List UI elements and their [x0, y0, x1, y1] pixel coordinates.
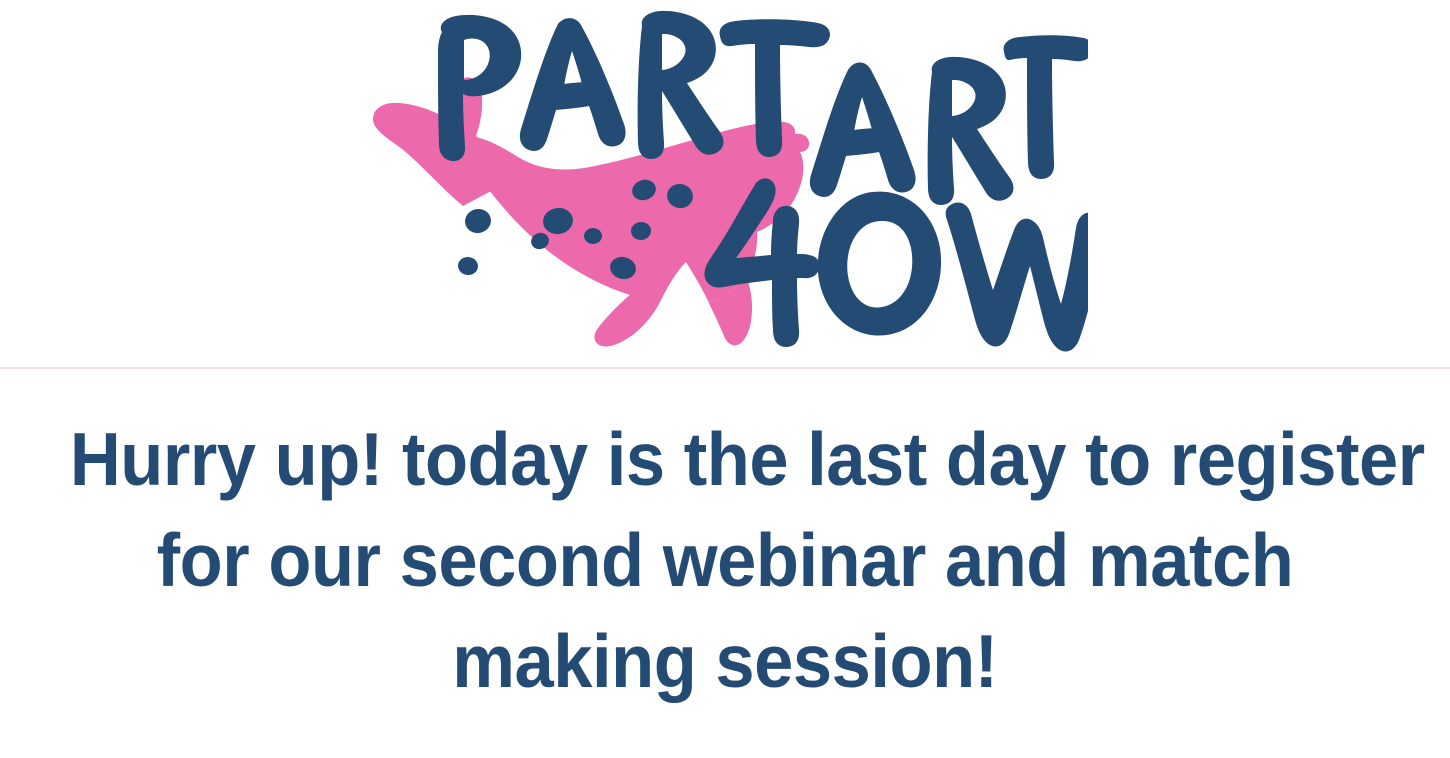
- headline-line-2: for our second webinar and match: [70, 510, 1380, 611]
- announcement-page: PARTART 4OW: [0, 0, 1450, 758]
- page-title: Hurry up! today is the last day to regis…: [70, 409, 1380, 712]
- wordmark-4ow: [704, 178, 1088, 351]
- partart-4ow-logo[interactable]: PARTART 4OW: [368, 0, 1088, 352]
- logo-artwork: [368, 0, 1088, 352]
- logo-header: PARTART 4OW: [0, 0, 1450, 367]
- headline-line-1: Hurry up! today is the last day to regis…: [70, 409, 1380, 510]
- headline-line-3: making session!: [70, 611, 1380, 712]
- headline-section: Hurry up! today is the last day to regis…: [0, 369, 1450, 758]
